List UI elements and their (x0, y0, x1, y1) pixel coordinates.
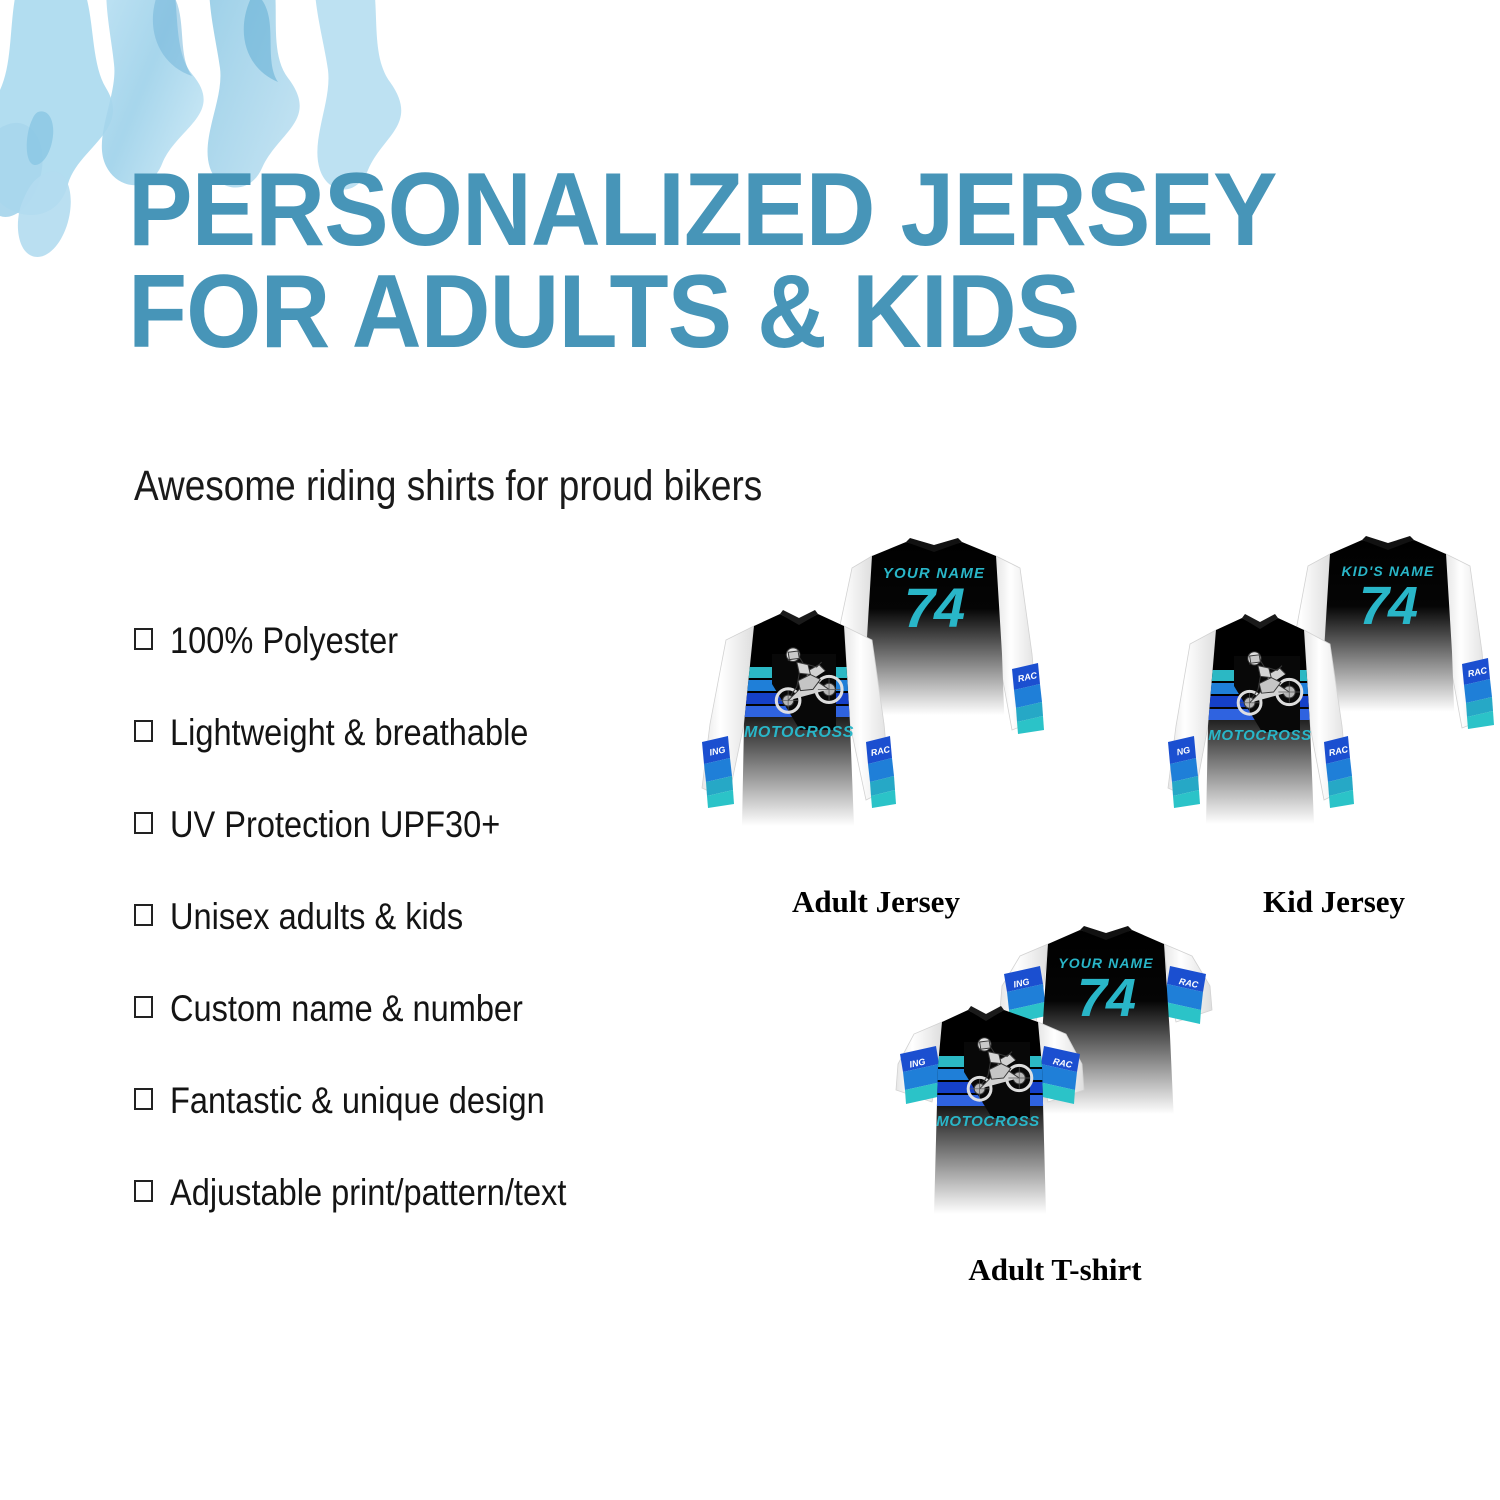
product-caption: Adult Jersey (676, 884, 1076, 920)
page-title: PERSONALIZED JERSEY FOR ADULTS & KIDS (128, 160, 1300, 364)
product-caption: Adult T-shirt (880, 1252, 1230, 1288)
chest-motocross-text: MOTOCROSS (744, 724, 854, 741)
feature-label: Adjustable print/pattern/text (170, 1172, 566, 1214)
back-number-text: 74 (904, 576, 965, 639)
subtitle: Awesome riding shirts for proud bikers (134, 462, 762, 511)
product-caption: Kid Jersey (1154, 884, 1500, 920)
headline-line-1: PERSONALIZED JERSEY (128, 152, 1277, 268)
back-number-text: 74 (1359, 576, 1418, 636)
checkbox-square-icon (134, 1180, 153, 1202)
checkbox-square-icon (134, 1088, 153, 1110)
checkbox-square-icon (134, 628, 153, 650)
kid-jersey-front-view: NG RAC (1168, 614, 1354, 824)
chest-motocross-text: MOTOCROSS (1208, 727, 1311, 744)
feature-label: Fantastic & unique design (170, 1080, 545, 1122)
adult-jersey-front-view: ING RAC (702, 610, 896, 826)
feature-label: UV Protection UPF30+ (170, 804, 500, 846)
product-adult-tshirt[interactable]: ING RAC YOUR NAME 74 ING (880, 926, 1230, 1306)
feature-label: 100% Polyester (170, 620, 398, 662)
checkbox-square-icon (134, 812, 153, 834)
feature-label: Lightweight & breathable (170, 712, 528, 754)
checkbox-square-icon (134, 720, 153, 742)
poster-canvas: PERSONALIZED JERSEY FOR ADULTS & KIDS Aw… (0, 0, 1500, 1500)
list-item: Fantastic & unique design (134, 1080, 774, 1172)
feature-label: Unisex adults & kids (170, 896, 463, 938)
checkbox-square-icon (134, 904, 153, 926)
adult-tshirt-image: ING RAC YOUR NAME 74 ING (880, 926, 1230, 1246)
headline-line-2: FOR ADULTS & KIDS (128, 262, 1300, 364)
list-item: Adjustable print/pattern/text (134, 1172, 774, 1264)
product-adult-jersey[interactable]: RAC YOUR NAME 74 ING (676, 534, 1076, 934)
list-item: Custom name & number (134, 988, 774, 1080)
product-kid-jersey[interactable]: RAC KID'S NAME 74 NG (1154, 534, 1500, 934)
feature-label: Custom name & number (170, 988, 523, 1030)
chest-motocross-text: MOTOCROSS (936, 1113, 1039, 1130)
back-number-text: 74 (1077, 968, 1136, 1028)
checkbox-square-icon (134, 996, 153, 1018)
kid-jersey-image: RAC KID'S NAME 74 NG (1154, 534, 1500, 879)
adult-jersey-image: RAC YOUR NAME 74 ING (676, 534, 1076, 879)
